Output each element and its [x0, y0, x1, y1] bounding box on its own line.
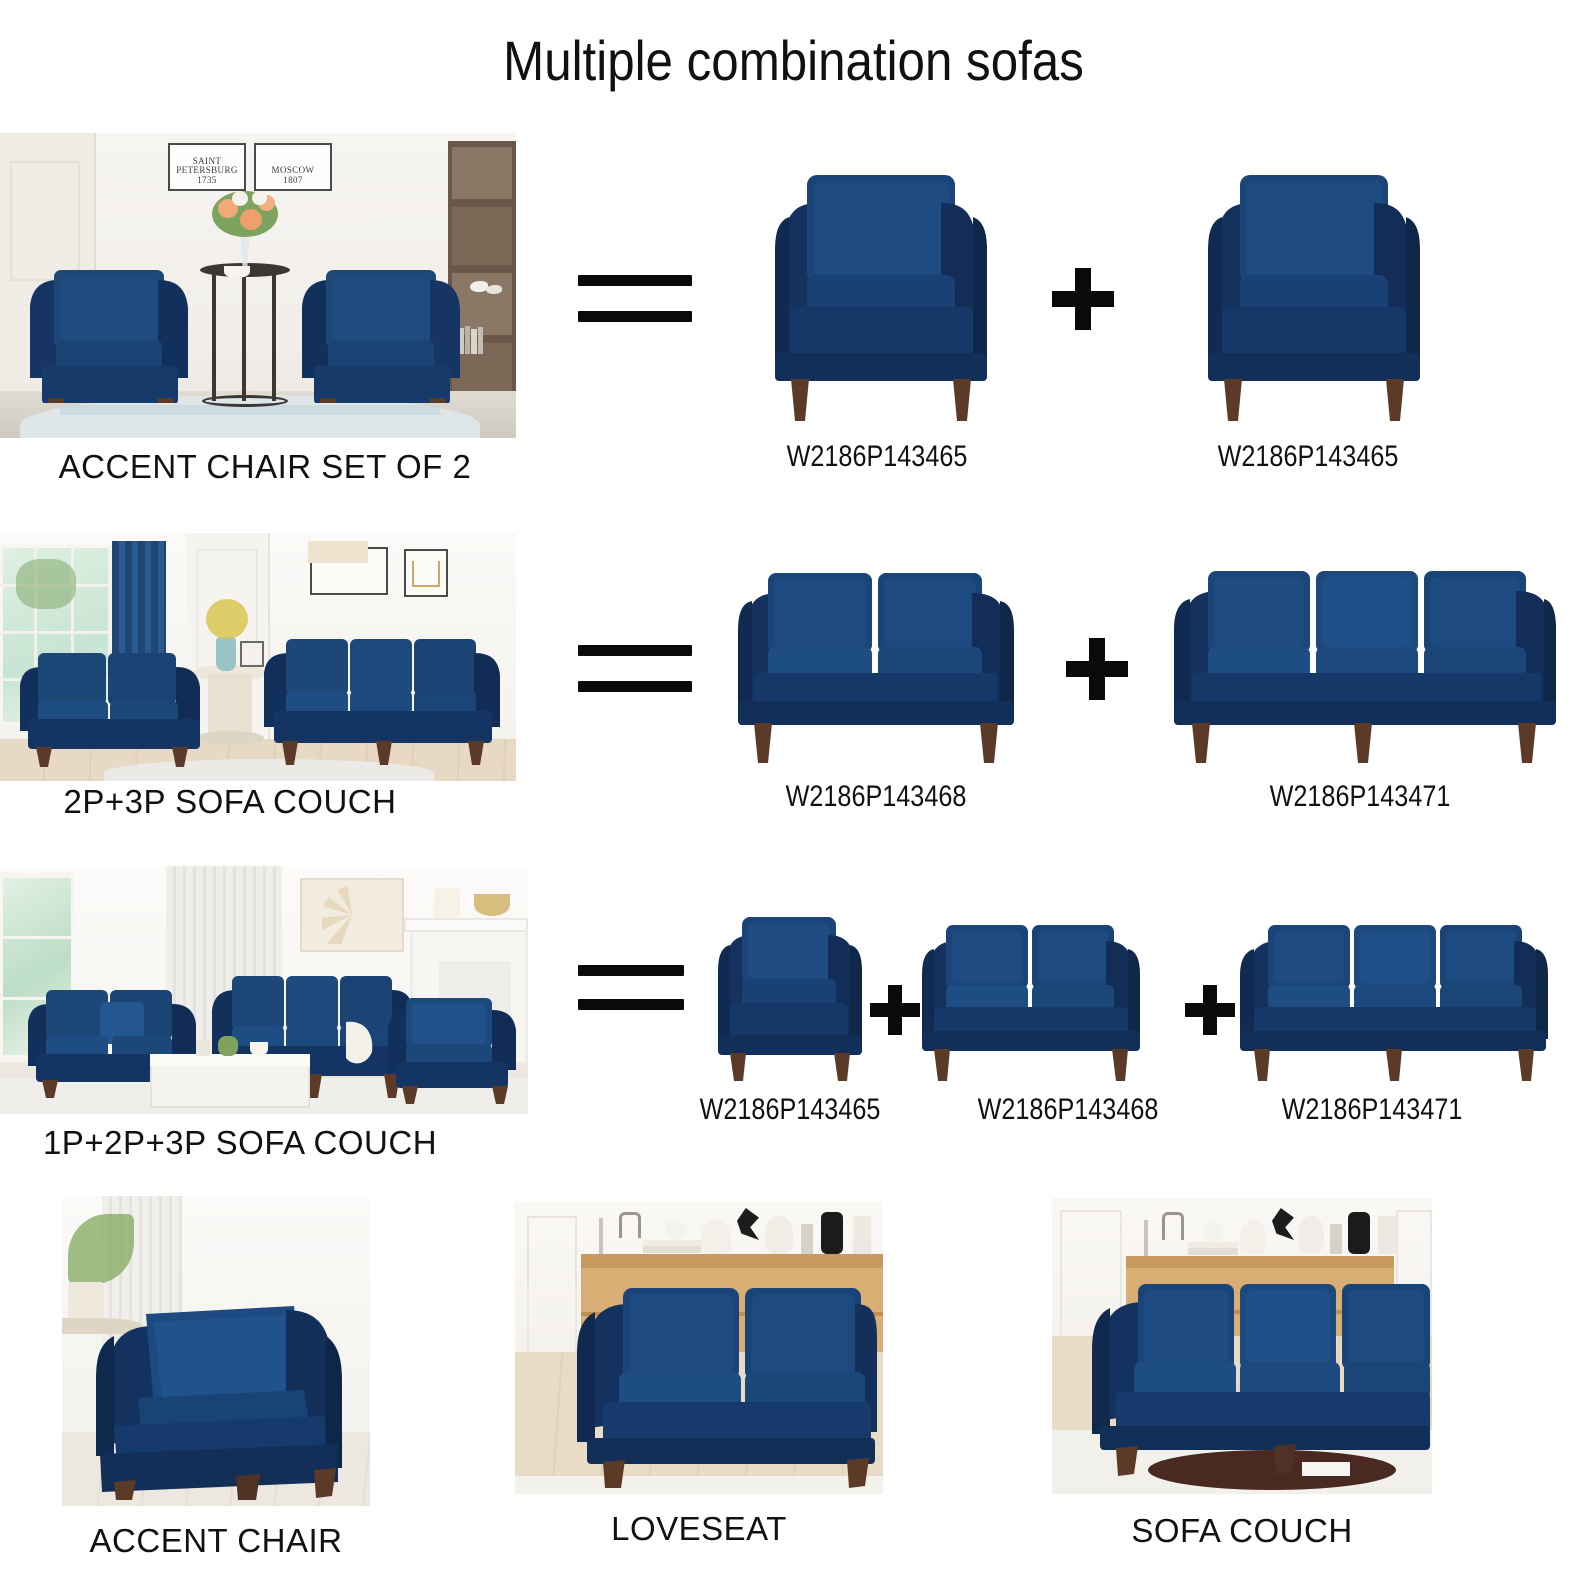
plus-sign-row-2: [1066, 638, 1128, 700]
caption-accent-chair-set: ACCENT CHAIR SET OF 2: [0, 448, 530, 486]
sku-row2-product-b: W2186P143471: [1209, 780, 1511, 814]
product-loveseat-row3: [910, 915, 1150, 1083]
gallery-photo-accent-chair: [62, 1196, 370, 1506]
lifestyle-photo-accent-chair-set: SAINT PETERSBURG 1735 MOSCOW 1807: [0, 133, 516, 438]
gallery-photo-sofa-couch: [1052, 1198, 1432, 1494]
infographic-page: Multiple combination sofas: [0, 0, 1587, 1587]
equals-sign-row-3: [578, 965, 684, 1010]
sku-row2-product-a: W2186P143468: [725, 780, 1027, 814]
product-loveseat-row2: [722, 555, 1030, 767]
wall-art-moscow: MOSCOW 1807: [254, 143, 332, 191]
wall-art-line2: 1735: [197, 176, 217, 185]
equals-sign-row-2: [578, 645, 692, 692]
sku-row1-product-a: W2186P143465: [726, 440, 1028, 474]
sku-row1-product-b: W2186P143465: [1157, 440, 1459, 474]
equals-sign-row-1: [578, 275, 692, 322]
product-sofa-row2: [1158, 555, 1558, 767]
caption-gallery-accent-chair: ACCENT CHAIR: [62, 1522, 370, 1560]
sku-row3-product-b: W2186P143468: [942, 1093, 1194, 1127]
caption-gallery-loveseat: LOVESEAT: [515, 1510, 883, 1548]
plus-sign-row-1: [1052, 268, 1114, 330]
wall-art-line2: 1807: [283, 176, 303, 185]
wall-art-saint-petersburg: SAINT PETERSBURG 1735: [168, 143, 246, 191]
caption-1p-2p-3p: 1P+2P+3P SOFA COUCH: [0, 1124, 480, 1162]
lifestyle-photo-1p-2p-3p: [0, 866, 528, 1114]
wall-art-line1: SAINT PETERSBURG: [170, 157, 244, 176]
caption-2p-3p: 2P+3P SOFA COUCH: [0, 783, 460, 821]
sku-row3-product-c: W2186P143471: [1246, 1093, 1498, 1127]
product-armchair-row1-b: [1178, 155, 1443, 427]
product-sofa-row3: [1228, 915, 1548, 1083]
caption-gallery-sofa-couch: SOFA COUCH: [1052, 1512, 1432, 1550]
sku-row3-product-a: W2186P143465: [664, 1093, 916, 1127]
page-title: Multiple combination sofas: [95, 28, 1492, 93]
product-armchair-row1-a: [745, 155, 1010, 427]
gallery-photo-loveseat: [515, 1202, 883, 1494]
product-armchair-row3: [700, 905, 875, 1083]
lifestyle-photo-2p-3p: [0, 533, 516, 781]
